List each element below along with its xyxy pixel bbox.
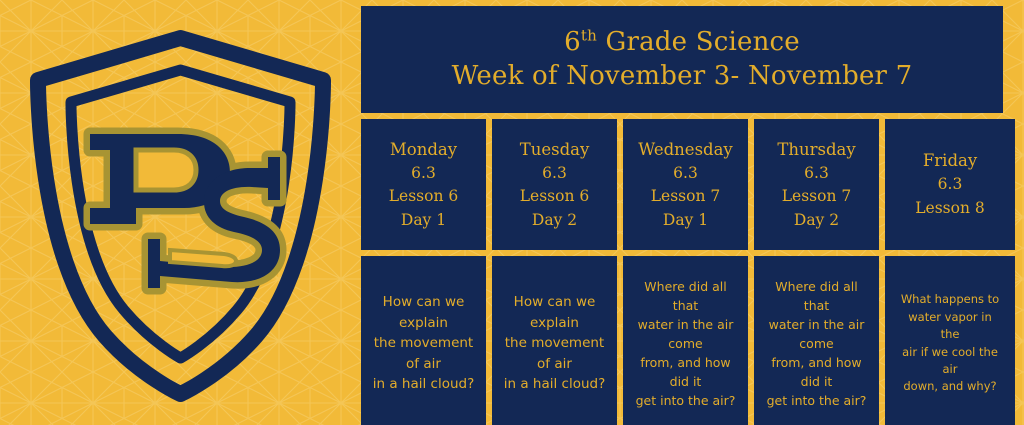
question-line: explain	[399, 313, 448, 334]
day-label: Day 1	[401, 209, 446, 233]
page-title-line-2: Week of November 3- November 7	[452, 60, 913, 93]
question-line: water in the air	[638, 315, 734, 334]
question-line: the movement	[505, 333, 604, 354]
day-name: Wednesday	[638, 137, 733, 162]
grade-ordinal-suffix: th	[581, 27, 597, 45]
day-name: Monday	[390, 137, 457, 162]
question-line: of air	[537, 354, 572, 375]
day-label: Day 2	[532, 209, 577, 233]
weekly-plan-table: 6th Grade Science Week of November 3- No…	[361, 6, 1003, 425]
lesson-plan-graphic: 6th Grade Science Week of November 3- No…	[0, 0, 1024, 425]
question-line: did it	[801, 372, 833, 391]
unit-code: 6.3	[673, 162, 698, 186]
question-line: What happens to	[901, 291, 999, 308]
grade-number: 6	[564, 27, 581, 57]
day-header-monday: Monday 6.3 Lesson 6 Day 1	[361, 119, 486, 250]
subject-label: Grade Science	[597, 27, 800, 57]
question-line: Where did all	[644, 277, 726, 296]
question-line: get into the air?	[636, 391, 736, 410]
unit-code: 6.3	[938, 173, 963, 197]
question-line: in a hail cloud?	[504, 374, 606, 395]
question-line: from, and how	[640, 353, 730, 372]
question-line: Where did all	[775, 277, 857, 296]
question-cell-thursday: Where did allthatwater in the aircomefro…	[754, 256, 879, 425]
question-line: the movement	[374, 333, 473, 354]
question-cell-wednesday: Where did allthatwater in the aircomefro…	[623, 256, 748, 425]
day-label: Day 1	[663, 209, 708, 233]
question-line: How can we	[383, 292, 465, 313]
day-name: Friday	[923, 148, 977, 173]
page-title-line-1: 6th Grade Science	[564, 26, 800, 59]
question-line: water in the air	[769, 315, 865, 334]
question-line: explain	[530, 313, 579, 334]
question-line: the	[941, 326, 960, 343]
question-line: of air	[406, 354, 441, 375]
unit-code: 6.3	[804, 162, 829, 186]
lesson-label: Lesson 7	[782, 185, 851, 209]
question-line: air	[943, 361, 958, 378]
question-cell-friday: What happens towater vapor intheair if w…	[885, 256, 1015, 425]
lesson-label: Lesson 8	[915, 197, 984, 221]
school-logo-panel	[0, 0, 361, 425]
question-line: down, and why?	[903, 378, 996, 395]
question-line: come	[799, 334, 833, 353]
title-banner: 6th Grade Science Week of November 3- No…	[361, 6, 1003, 113]
question-line: air if we cool the	[902, 344, 998, 361]
question-line: get into the air?	[767, 391, 867, 410]
day-name: Thursday	[777, 137, 855, 162]
question-cell-tuesday: How can weexplainthe movementof airin a …	[492, 256, 617, 425]
question-line: did it	[670, 372, 702, 391]
question-cell-monday: How can weexplainthe movementof airin a …	[361, 256, 486, 425]
day-header-thursday: Thursday 6.3 Lesson 7 Day 2	[754, 119, 879, 250]
day-label: Day 2	[794, 209, 839, 233]
lesson-label: Lesson 6	[520, 185, 589, 209]
day-name: Tuesday	[520, 137, 590, 162]
lesson-label: Lesson 6	[389, 185, 458, 209]
question-line: How can we	[514, 292, 596, 313]
shield-crest	[18, 18, 343, 410]
unit-code: 6.3	[411, 162, 436, 186]
question-line: that	[673, 296, 698, 315]
question-line: in a hail cloud?	[373, 374, 475, 395]
question-line: water vapor in	[908, 309, 991, 326]
day-grid: Monday 6.3 Lesson 6 Day 1 Tuesday 6.3 Le…	[361, 119, 1003, 425]
day-header-friday: Friday 6.3 Lesson 8	[885, 119, 1015, 250]
question-line: that	[804, 296, 829, 315]
unit-code: 6.3	[542, 162, 567, 186]
day-header-wednesday: Wednesday 6.3 Lesson 7 Day 1	[623, 119, 748, 250]
question-line: from, and how	[771, 353, 861, 372]
lesson-label: Lesson 7	[651, 185, 720, 209]
day-header-tuesday: Tuesday 6.3 Lesson 6 Day 2	[492, 119, 617, 250]
question-line: come	[668, 334, 702, 353]
